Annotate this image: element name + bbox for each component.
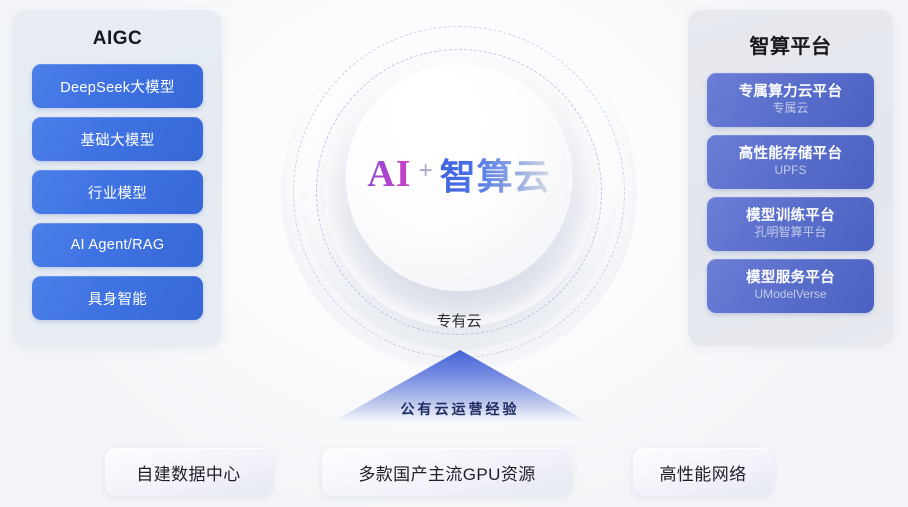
platform-chip-model-training[interactable]: 模型训练平台 孔明智算平台 [707,197,874,251]
platform-chip-high-performance-storage[interactable]: 高性能存储平台 UPFS [707,135,874,189]
aigc-panel-title: AIGC [13,28,222,50]
public-cloud-arrow: 公有云运营经验 [332,350,588,422]
center-title-ai: AI [367,153,411,195]
platform-chip-subtitle: 专属云 [772,102,808,116]
bottom-box-self-built-datacenter[interactable]: 自建数据中心 [105,448,272,496]
center-cloud-graphic: AI+智算云 专有云 [281,14,637,370]
platform-chip-title: 高性能存储平台 [739,146,843,163]
aigc-chip-deepseek[interactable]: DeepSeek大模型 [32,64,203,108]
platform-chip-model-serving[interactable]: 模型服务平台 UModelVerse [707,259,874,313]
compute-platform-chip-list: 专属算力云平台 专属云 高性能存储平台 UPFS 模型训练平台 孔明智算平台 模… [688,73,893,313]
bottom-box-high-performance-network[interactable]: 高性能网络 [633,448,773,496]
compute-platform-panel-title: 智算平台 [688,30,893,59]
arrow-label: 公有云运营经验 [332,399,588,419]
aigc-chip-list: DeepSeek大模型 基础大模型 行业模型 AI Agent/RAG 具身智能 [13,64,222,320]
platform-chip-subtitle: UPFS [774,164,806,178]
platform-chip-dedicated-compute-cloud[interactable]: 专属算力云平台 专属云 [707,73,874,127]
compute-platform-panel: 智算平台 专属算力云平台 专属云 高性能存储平台 UPFS 模型训练平台 孔明智… [688,10,893,346]
aigc-chip-foundation-model[interactable]: 基础大模型 [32,117,203,161]
aigc-chip-industry-model[interactable]: 行业模型 [32,170,203,214]
aigc-panel: AIGC DeepSeek大模型 基础大模型 行业模型 AI Agent/RAG… [13,10,222,347]
platform-chip-title: 模型服务平台 [746,270,835,287]
center-title: AI+智算云 [281,148,637,200]
center-title-cloud: 智算云 [440,156,551,197]
platform-chip-title: 模型训练平台 [746,208,835,225]
platform-chip-subtitle: 孔明智算平台 [754,226,826,240]
platform-chip-subtitle: UModelVerse [754,288,826,302]
center-title-plus: + [419,157,433,184]
private-cloud-caption: 专有云 [281,310,637,331]
platform-chip-title: 专属算力云平台 [739,84,843,101]
aigc-chip-embodied-intelligence[interactable]: 具身智能 [32,276,203,320]
bottom-box-domestic-gpu-resources[interactable]: 多款国产主流GPU资源 [322,448,572,496]
aigc-chip-ai-agent-rag[interactable]: AI Agent/RAG [32,223,203,267]
